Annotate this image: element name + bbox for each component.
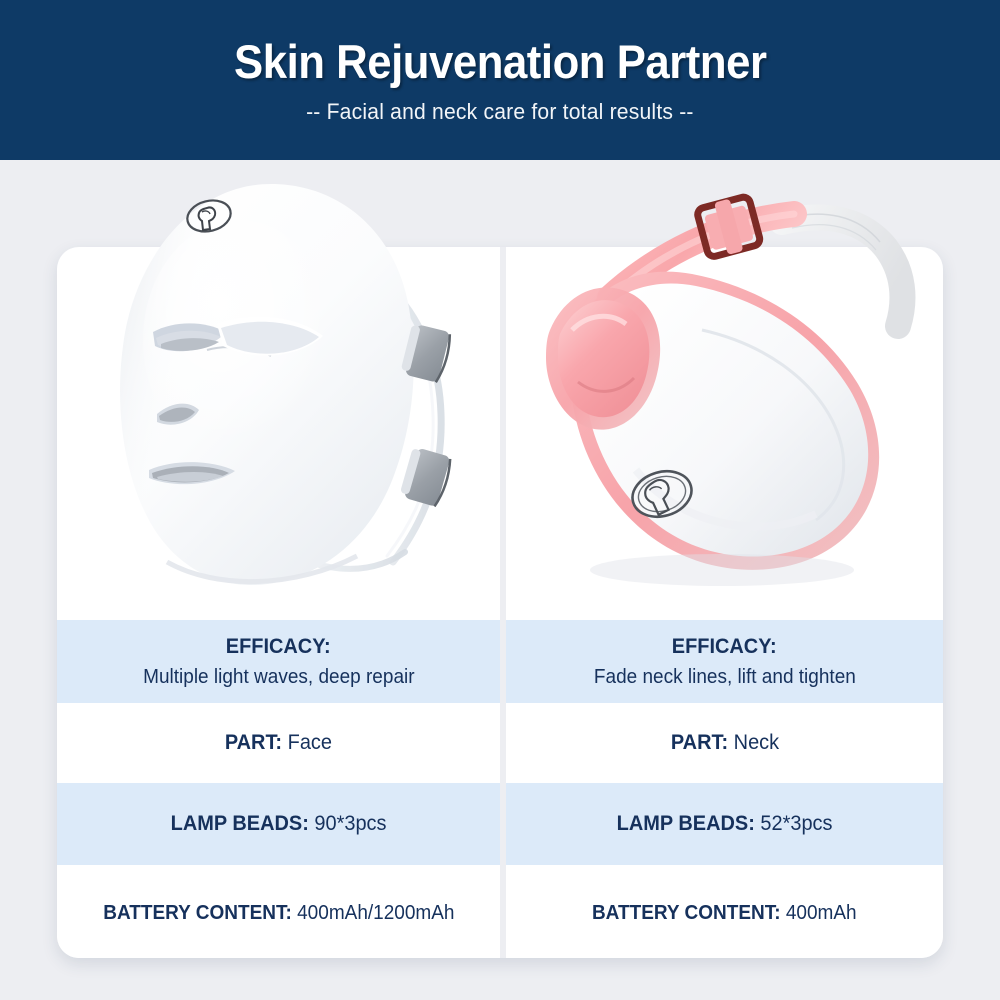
- lamp-beads-value: 90*3pcs: [314, 812, 386, 835]
- part-keyvalue: PART: Neck: [670, 730, 778, 755]
- efficacy-value: Fade neck lines, lift and tighten: [594, 666, 856, 689]
- battery-keyvalue: BATTERY CONTENT: 400mAh: [592, 901, 857, 925]
- efficacy-cell-neck: EFFICACY: Fade neck lines, lift and tigh…: [500, 620, 943, 703]
- lamp-beads-keyvalue: LAMP BEADS: 90*3pcs: [171, 811, 387, 836]
- part-label: PART:: [670, 731, 727, 754]
- lamp-beads-cell-neck: LAMP BEADS: 52*3pcs: [500, 783, 943, 865]
- part-value: Neck: [733, 731, 778, 754]
- efficacy-cell-face: EFFICACY: Multiple light waves, deep rep…: [57, 620, 500, 703]
- page-header: Skin Rejuvenation Partner -- Facial and …: [0, 0, 1000, 160]
- part-cell-face: PART: Face: [57, 703, 500, 783]
- efficacy-label: EFFICACY:: [672, 635, 777, 659]
- efficacy-value: Multiple light waves, deep repair: [143, 666, 414, 689]
- part-value: Face: [288, 731, 332, 754]
- lamp-beads-label: LAMP BEADS:: [617, 812, 755, 835]
- infographic-page: Skin Rejuvenation Partner -- Facial and …: [0, 0, 1000, 1000]
- battery-keyvalue: BATTERY CONTENT: 400mAh/1200mAh: [103, 901, 454, 925]
- touch-power-button-icon: [184, 196, 234, 236]
- battery-cell-face: BATTERY CONTENT: 400mAh/1200mAh: [57, 865, 500, 958]
- battery-cell-neck: BATTERY CONTENT: 400mAh: [500, 865, 943, 958]
- battery-value: 400mAh/1200mAh: [297, 902, 454, 924]
- battery-value: 400mAh: [786, 902, 857, 924]
- battery-label: BATTERY CONTENT:: [592, 902, 781, 924]
- efficacy-label: EFFICACY:: [226, 635, 331, 659]
- card-inner: EFFICACY: Multiple light waves, deep rep…: [57, 247, 943, 958]
- battery-label: BATTERY CONTENT:: [103, 902, 292, 924]
- lamp-beads-cell-face: LAMP BEADS: 90*3pcs: [57, 783, 500, 865]
- lamp-beads-keyvalue: LAMP BEADS: 52*3pcs: [617, 811, 833, 836]
- comparison-card: EFFICACY: Multiple light waves, deep rep…: [57, 247, 943, 958]
- lamp-beads-value: 52*3pcs: [760, 812, 832, 835]
- part-label: PART:: [225, 731, 282, 754]
- page-subtitle: -- Facial and neck care for total result…: [306, 101, 694, 123]
- part-keyvalue: PART: Face: [225, 730, 332, 755]
- column-divider: [500, 247, 506, 958]
- page-title: Skin Rejuvenation Partner: [234, 38, 766, 85]
- lamp-beads-label: LAMP BEADS:: [171, 812, 309, 835]
- part-cell-neck: PART: Neck: [500, 703, 943, 783]
